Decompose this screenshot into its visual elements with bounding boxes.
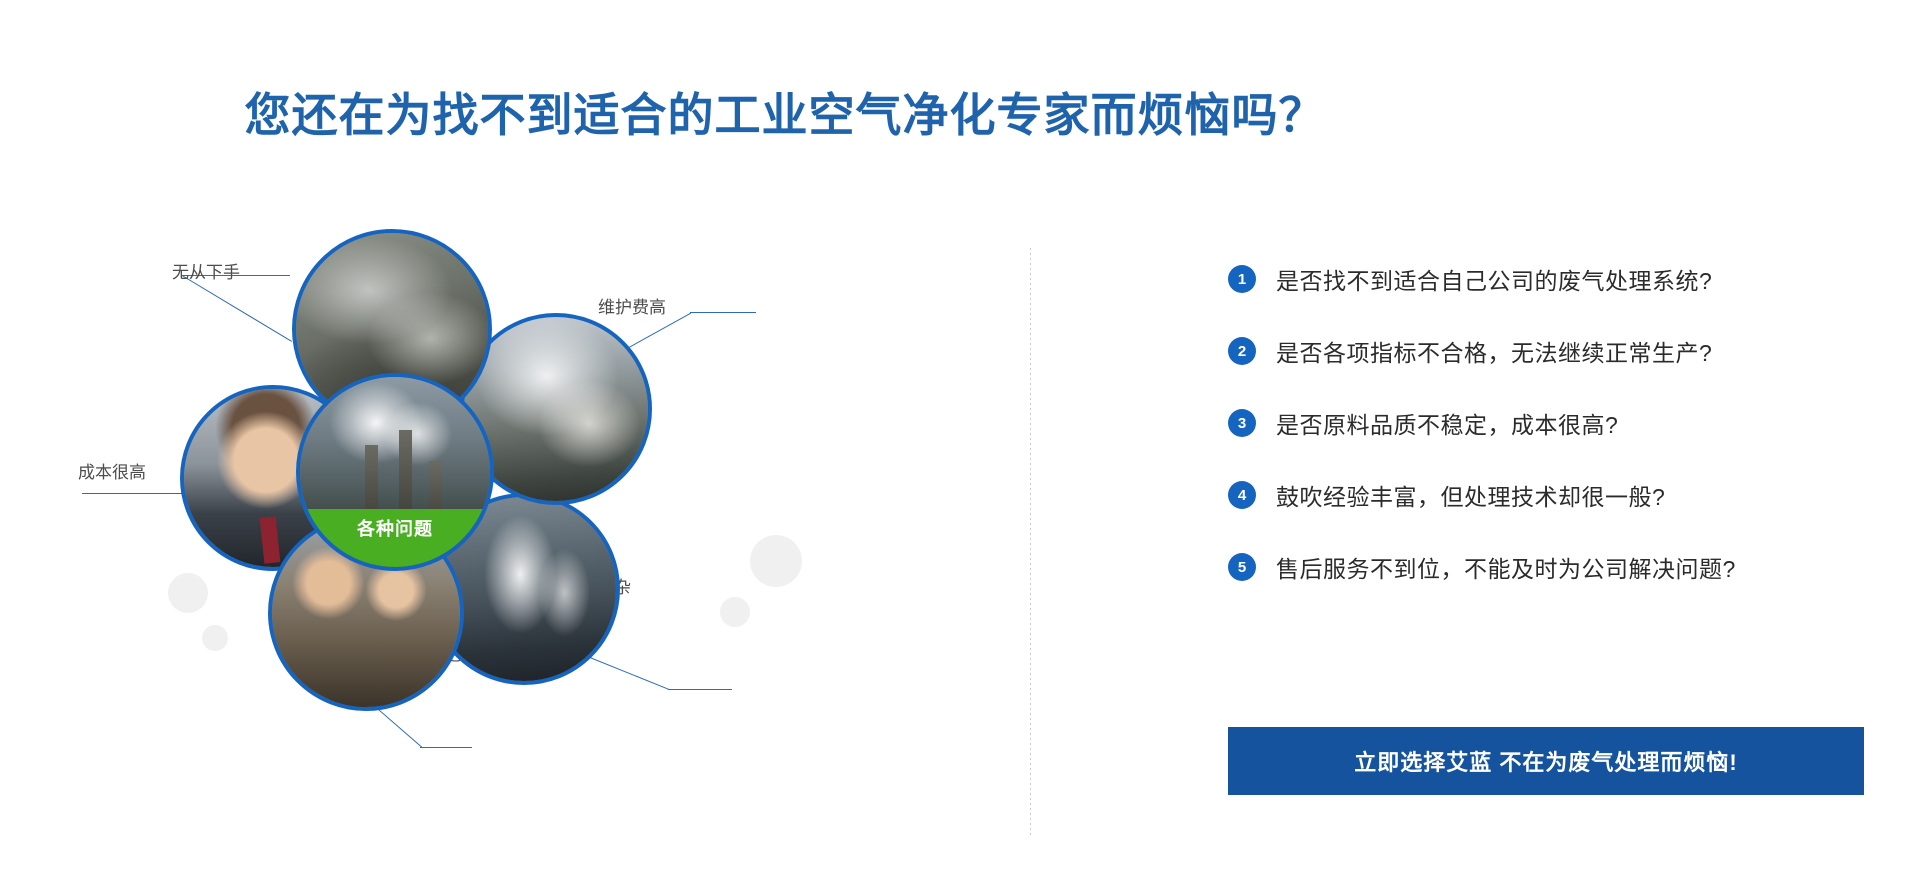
- list-item: 1 是否找不到适合自己公司的废气处理系统?: [1228, 262, 1868, 296]
- list-item: 2 是否各项指标不合格，无法继续正常生产?: [1228, 334, 1868, 368]
- caption-high-cost: 成本很高: [78, 458, 146, 483]
- leader-line-high-upkeep-flat: [690, 312, 756, 313]
- leader-line-no-start: [182, 275, 292, 342]
- problem-cluster-diagram: 各种问题 无从下手 维护费高 成本很高 太复杂 经常抱怨: [60, 215, 960, 855]
- page-title: 您还在为找不到适合的工业空气净化专家而烦恼吗？: [0, 88, 1570, 143]
- decorative-dot: [720, 597, 750, 627]
- decorative-dot: [750, 535, 802, 587]
- page-root: 您还在为找不到适合的工业空气净化专家而烦恼吗？: [0, 0, 1920, 875]
- caption-no-start: 无从下手: [172, 258, 240, 283]
- list-item-number: 2: [1228, 337, 1256, 365]
- vertical-divider: [1030, 248, 1031, 838]
- list-item: 4 鼓吹经验丰富，但处理技术却很一般?: [1228, 478, 1868, 512]
- list-item-number: 5: [1228, 553, 1256, 581]
- leader-line-complaints-flat: [420, 747, 472, 748]
- photo-bubble-main-smokestacks: 各种问题: [296, 373, 494, 571]
- decorative-dot: [202, 625, 228, 651]
- leader-line-too-complex-flat: [668, 689, 732, 690]
- list-item-label: 是否找不到适合自己公司的废气处理系统?: [1276, 262, 1712, 296]
- caption-high-upkeep: 维护费高: [598, 293, 666, 318]
- cta-button[interactable]: 立即选择艾蓝 不在为废气处理而烦恼!: [1228, 727, 1864, 795]
- list-item: 5 售后服务不到位，不能及时为公司解决问题?: [1228, 550, 1868, 584]
- leader-line-high-cost: [82, 493, 194, 494]
- list-item-label: 是否原料品质不稳定，成本很高?: [1276, 406, 1618, 440]
- center-badge-label: 各种问题: [300, 509, 490, 567]
- list-item-label: 鼓吹经验丰富，但处理技术却很一般?: [1276, 478, 1665, 512]
- list-item-label: 售后服务不到位，不能及时为公司解决问题?: [1276, 550, 1736, 584]
- list-item-number: 1: [1228, 265, 1256, 293]
- pain-point-list: 1 是否找不到适合自己公司的废气处理系统? 2 是否各项指标不合格，无法继续正常…: [1228, 262, 1868, 622]
- list-item-number: 4: [1228, 481, 1256, 509]
- list-item-label: 是否各项指标不合格，无法继续正常生产?: [1276, 334, 1712, 368]
- list-item-number: 3: [1228, 409, 1256, 437]
- decorative-dot: [168, 573, 208, 613]
- list-item: 3 是否原料品质不稳定，成本很高?: [1228, 406, 1868, 440]
